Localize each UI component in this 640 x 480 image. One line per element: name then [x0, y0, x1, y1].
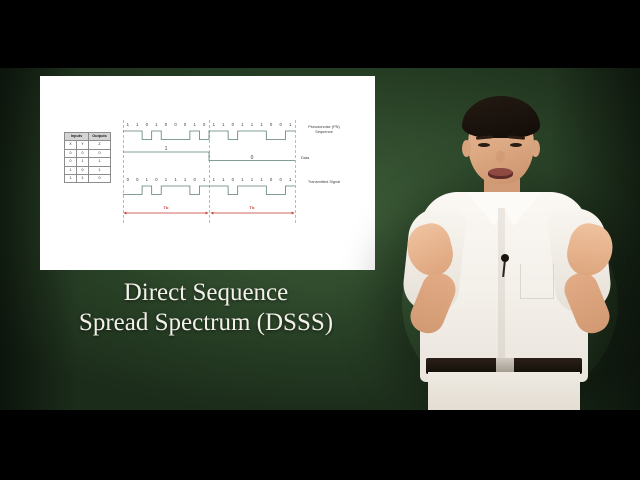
bit-label: 1 [213, 175, 215, 184]
bit-label: 0 [155, 175, 157, 184]
bit-label: 1 [146, 175, 148, 184]
bit-label: 1 [241, 120, 243, 129]
data-trace [123, 150, 295, 163]
bit-label: 0 [270, 175, 272, 184]
tb-label-second: Tb [250, 205, 255, 210]
bit-label: 0 [279, 120, 281, 129]
table-row: 1 0 1 [65, 166, 111, 174]
bit-label: 0 [127, 175, 129, 184]
presenter-hair [462, 96, 540, 138]
bit-label: 1 [251, 120, 253, 129]
bit-label: 1 [184, 175, 186, 184]
col-x: X [65, 141, 77, 149]
cell-z: 1 [89, 166, 111, 174]
cell-z: 0 [89, 175, 111, 183]
slide-title: Direct Sequence Spread Spectrum (DSSS) [30, 278, 382, 338]
cell-x: 0 [65, 149, 77, 157]
cell-y: 1 [77, 158, 89, 166]
bit-label: 1 [260, 175, 262, 184]
bit-label: 1 [165, 175, 167, 184]
pn-bit-labels: 110100010110111001 [123, 120, 295, 129]
data-value-first: 1 [165, 146, 168, 152]
presenter-eye-right [510, 143, 522, 147]
table-row: 0 0 0 [65, 149, 111, 157]
bit-label: 1 [289, 120, 291, 129]
truth-table-body: X Y Z 0 0 0 0 1 1 1 [65, 141, 111, 183]
bit-label: 0 [174, 120, 176, 129]
bit-label: 0 [203, 120, 205, 129]
col-y: Y [77, 141, 89, 149]
bit-period-markers: Tb Tb [123, 206, 295, 216]
presenter-shirt-pocket [520, 264, 554, 299]
title-line-1: Direct Sequence [30, 278, 382, 308]
tx-bit-labels: 001011101110111001 [123, 175, 295, 184]
cell-y: 1 [77, 175, 89, 183]
cell-x: 1 [65, 175, 77, 183]
bit-label: 1 [127, 120, 129, 129]
bit-label: 1 [260, 120, 262, 129]
bit-label: 0 [136, 175, 138, 184]
presenter-ear-left [462, 140, 471, 157]
presenter-mouth [488, 168, 513, 179]
data-label: Data [301, 155, 347, 160]
bit-label: 0 [279, 175, 281, 184]
data-value-second: 0 [251, 155, 254, 161]
waveform-area: 110100010110111001 Pseudonoise (PN) Sequ… [123, 120, 295, 215]
bit-label: 1 [289, 175, 291, 184]
video-frame: Inputs Outputs X Y Z 0 0 0 [0, 0, 640, 480]
bit-label: 0 [270, 120, 272, 129]
presenter-ear-right [531, 140, 540, 157]
table-row: 0 1 1 [65, 158, 111, 166]
bit-label: 1 [213, 120, 215, 129]
cell-x: 1 [65, 166, 77, 174]
pn-sequence-trace [123, 129, 295, 142]
table-row: 1 1 0 [65, 175, 111, 183]
bit-label: 1 [222, 120, 224, 129]
presenter [392, 96, 628, 410]
lecture-slide: Inputs Outputs X Y Z 0 0 0 [40, 76, 375, 270]
presenter-nose [496, 151, 505, 163]
table-row-header: X Y Z [65, 141, 111, 149]
truth-table-group-inputs: Inputs [65, 133, 89, 141]
lapel-microphone-icon [501, 254, 509, 262]
presenter-eye-left [478, 143, 490, 147]
tb-label-first: Tb [164, 205, 169, 210]
bit-label: 1 [241, 175, 243, 184]
cell-x: 0 [65, 158, 77, 166]
bit-label: 1 [155, 120, 157, 129]
cell-z: 1 [89, 158, 111, 166]
cell-y: 0 [77, 149, 89, 157]
cell-y: 0 [77, 166, 89, 174]
guide-line-end [295, 120, 296, 223]
letterbox-bottom [0, 410, 640, 480]
bit-label: 1 [222, 175, 224, 184]
bit-label: 0 [165, 120, 167, 129]
bit-label: 1 [136, 120, 138, 129]
bit-label: 0 [193, 175, 195, 184]
presenter-trousers [428, 372, 580, 410]
bit-label: 1 [203, 175, 205, 184]
letterbox-top [0, 0, 640, 68]
pn-sequence-label: Pseudonoise (PN) Sequence [301, 124, 347, 134]
transmitted-signal-trace [123, 184, 295, 197]
dsss-diagram: Inputs Outputs X Y Z 0 0 0 [40, 76, 375, 270]
bit-label: 0 [232, 120, 234, 129]
bit-label: 0 [232, 175, 234, 184]
bit-label: 1 [174, 175, 176, 184]
tb-arrows-icon [123, 209, 295, 219]
bit-label: 1 [251, 175, 253, 184]
truth-table-group-outputs: Outputs [89, 133, 111, 141]
transmitted-signal-label: Transmitted Signal [301, 179, 347, 184]
xor-truth-table: Inputs Outputs X Y Z 0 0 0 [64, 132, 111, 183]
col-z: Z [89, 141, 111, 149]
bit-label: 0 [184, 120, 186, 129]
presenter-shirt-placket [498, 208, 505, 376]
bit-label: 1 [193, 120, 195, 129]
title-line-2: Spread Spectrum (DSSS) [30, 308, 382, 338]
bit-label: 0 [146, 120, 148, 129]
cell-z: 0 [89, 149, 111, 157]
